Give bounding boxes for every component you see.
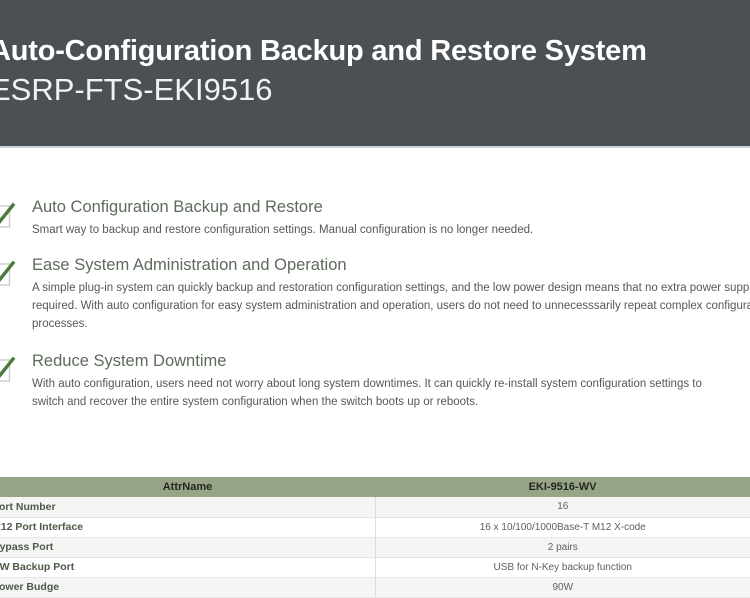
feature-title: Auto Configuration Backup and Restore: [32, 196, 750, 218]
table-row: HW Backup Port USB for N-Key backup func…: [0, 557, 750, 577]
checkmark-icon: [0, 356, 16, 386]
row-attr-text: Bypass Port: [0, 541, 53, 553]
table-header: AttrName EKI-9516-WV: [0, 477, 750, 497]
feature-title: Ease System Administration and Operation: [32, 254, 750, 276]
feature-list: Auto Configuration Backup and Restore Sm…: [0, 196, 750, 426]
feature-description: A simple plug-in system can quickly back…: [32, 280, 750, 333]
feature-item: Auto Configuration Backup and Restore Sm…: [0, 196, 750, 240]
row-attr-label: Power Budge: [0, 577, 375, 597]
row-attr-label: Port Number: [0, 497, 375, 517]
page-subtitle: ESRP-FTS-EKI9516: [0, 72, 750, 109]
row-attr-text: Port Number: [0, 501, 56, 513]
table-body: Port Number 16 M12 Port Interface 16 x 1…: [0, 497, 750, 597]
table-header-row: AttrName EKI-9516-WV: [0, 477, 750, 497]
feature-item: Ease System Administration and Operation…: [0, 254, 750, 334]
hero-banner: Auto-Configuration Backup and Restore Sy…: [0, 0, 750, 148]
row-value: 2 pairs: [375, 537, 750, 557]
row-attr-label: HW Backup Port: [0, 557, 375, 577]
table-row: Power Budge 90W: [0, 577, 750, 597]
feature-title: Reduce System Downtime: [32, 350, 750, 372]
row-value: 16: [375, 497, 750, 517]
checkmark-icon: [0, 202, 16, 232]
feature-description: With auto configuration, users need not …: [32, 376, 732, 412]
checkmark-icon: [0, 260, 16, 290]
page-title: Auto-Configuration Backup and Restore Sy…: [0, 34, 750, 68]
row-value: USB for N-Key backup function: [375, 557, 750, 577]
table-row: M12 Port Interface 16 x 10/100/1000Base-…: [0, 517, 750, 537]
specification-table: AttrName EKI-9516-WV Port Number 16 M12 …: [0, 477, 750, 598]
table-row: Port Number 16: [0, 497, 750, 517]
row-attr-text: M12 Port Interface: [0, 521, 83, 533]
row-attr-text: HW Backup Port: [0, 561, 74, 573]
table-row: Bypass Port 2 pairs: [0, 537, 750, 557]
column-header-model: EKI-9516-WV: [375, 477, 750, 497]
row-attr-text: Power Budge: [0, 581, 59, 593]
row-value: 16 x 10/100/1000Base-T M12 X-code: [375, 517, 750, 537]
column-header-attrname: AttrName: [0, 477, 375, 497]
row-attr-label: M12 Port Interface: [0, 517, 375, 537]
row-value: 90W: [375, 577, 750, 597]
feature-item: Reduce System Downtime With auto configu…: [0, 350, 750, 412]
hero-text-group: Auto-Configuration Backup and Restore Sy…: [0, 34, 750, 109]
feature-description: Smart way to backup and restore configur…: [32, 222, 750, 240]
row-attr-label: Bypass Port: [0, 537, 375, 557]
